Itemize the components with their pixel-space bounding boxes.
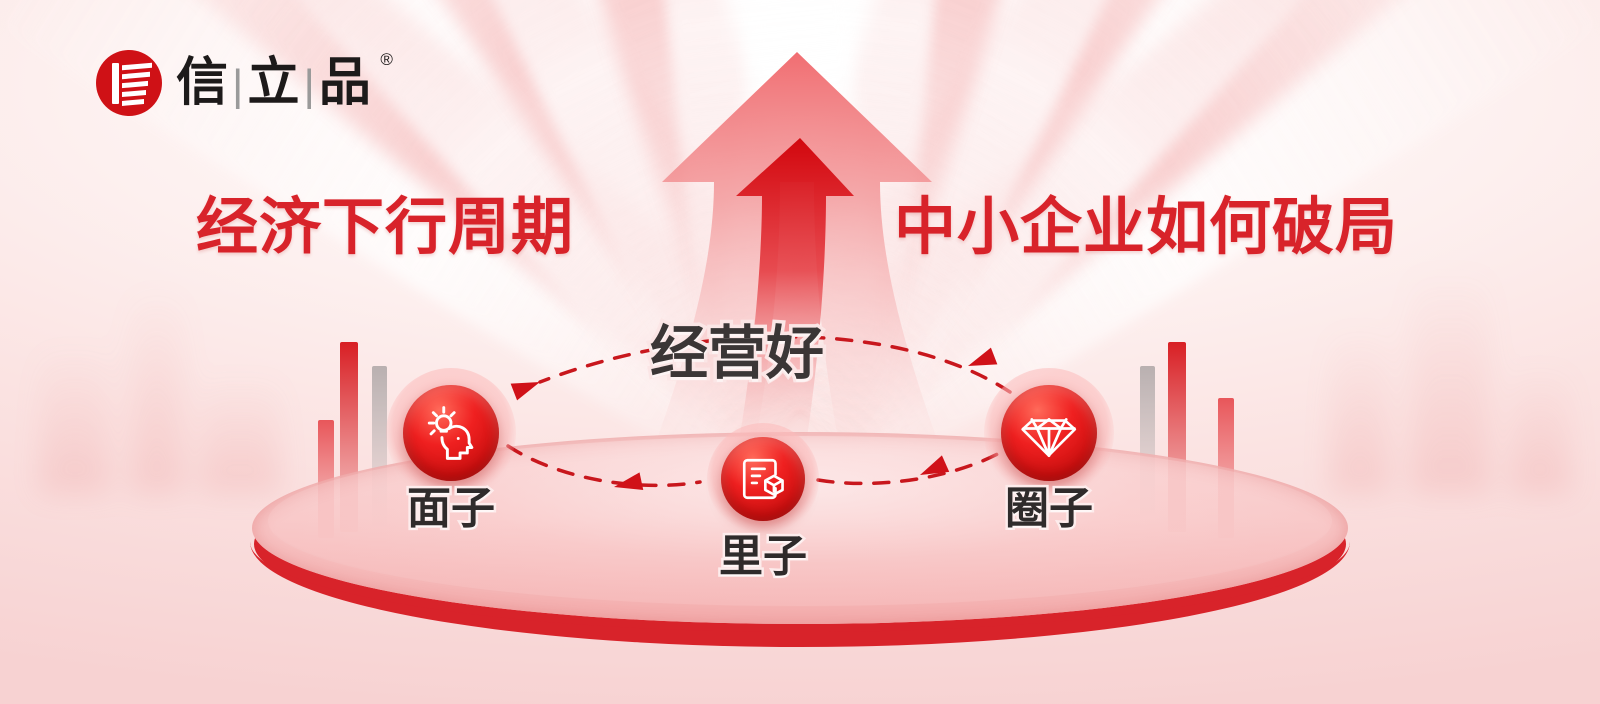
flow-arc-bottom-left <box>508 446 700 485</box>
diamond-gem-icon <box>1001 385 1097 481</box>
brand-char-1: 信 <box>176 54 230 112</box>
poster-canvas: 面子 里子 圈子 <box>0 0 1600 704</box>
flow-arrow-head-bottom-right <box>916 455 949 483</box>
node-quanzi[interactable]: 圈子 <box>984 368 1114 498</box>
node-label-mianzi: 面子 <box>407 472 495 536</box>
brand-logo[interactable]: 信|立|品® <box>96 50 373 116</box>
brand-char-2: 立 <box>247 54 301 112</box>
brand-separator-1: | <box>230 61 247 110</box>
xinlipin-circle-logo-icon <box>96 50 162 116</box>
head-lightbulb-idea-icon <box>403 385 499 481</box>
registered-mark-icon: ® <box>380 51 395 68</box>
brand-wordmark: 信|立|品® <box>176 57 373 109</box>
node-label-lizi: 里子 <box>719 520 807 584</box>
headline-left: 经济下行周期 <box>196 176 574 266</box>
headline-right: 中小企业如何破局 <box>894 176 1398 266</box>
node-label-quanzi: 圈子 <box>1005 472 1093 536</box>
document-cube-icon <box>721 437 805 521</box>
brand-char-3: 品 <box>319 54 373 112</box>
node-lizi[interactable]: 里子 <box>708 424 818 534</box>
node-mianzi[interactable]: 面子 <box>386 368 516 498</box>
center-label-jingyinghao: 经营好 <box>650 306 824 390</box>
flow-arc-bottom-right <box>818 446 1012 483</box>
brand-separator-2: | <box>301 61 318 110</box>
